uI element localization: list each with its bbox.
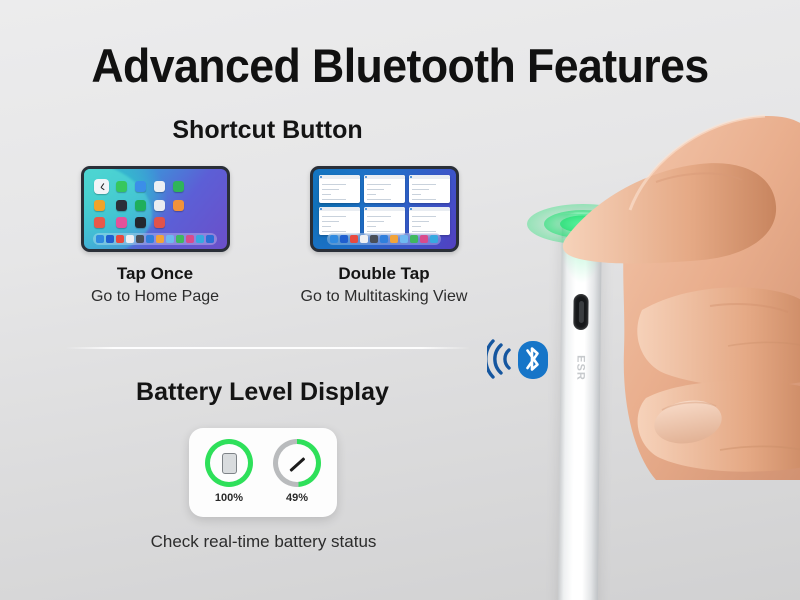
home-app-icon (94, 217, 105, 228)
dock-app-icon (370, 235, 378, 243)
dock-app-icon (166, 235, 174, 243)
shortcut-section-heading: Shortcut Button (0, 116, 535, 145)
shortcut-item-tap-once: Tap Once Go to Home Page (69, 166, 241, 306)
dock-app-icon (156, 235, 164, 243)
section-divider (65, 347, 470, 349)
dock-app-icon (146, 235, 154, 243)
home-dock (93, 233, 217, 245)
shortcut-item-double-tap: Double Tap Go to Multitasking View (286, 166, 482, 306)
battery-ring-stylus (273, 439, 321, 487)
bluetooth-icon (487, 335, 549, 383)
battery-gauge-tablet: 100% (202, 439, 256, 517)
dock-app-icon (186, 235, 194, 243)
dock-app-icon (360, 235, 368, 243)
dock-app-icon (196, 235, 204, 243)
battery-level-card: 100% 49% (189, 428, 337, 517)
home-app-icon (116, 217, 127, 228)
tablet-multitasking-screen (310, 166, 459, 252)
battery-ring-tablet (205, 439, 253, 487)
multitasking-screen (313, 169, 456, 249)
dock-app-icon (390, 235, 398, 243)
multitasking-window-card (364, 207, 405, 235)
home-app-icon (94, 179, 109, 194)
multitasking-card-grid (319, 175, 450, 235)
dock-app-icon (350, 235, 358, 243)
tap-once-label: Tap Once (69, 264, 241, 284)
battery-gauge-stylus: 49% (270, 439, 324, 517)
dock-app-icon (420, 235, 428, 243)
dock-app-icon (330, 235, 338, 243)
home-app-grid (94, 181, 186, 228)
dock-app-icon (126, 235, 134, 243)
dock-app-icon (176, 235, 184, 243)
home-app-icon (173, 181, 184, 192)
home-app-icon (135, 217, 146, 228)
dock-app-icon (96, 235, 104, 243)
multitasking-window-card (319, 207, 360, 235)
dock-app-icon (106, 235, 114, 243)
hand-photo (560, 60, 800, 480)
marketing-banner: Advanced Bluetooth Features Shortcut But… (0, 0, 800, 600)
multitasking-window-card (319, 175, 360, 203)
multitasking-window-card (409, 175, 450, 203)
home-app-icon (94, 200, 105, 211)
dock-app-icon (206, 235, 214, 243)
stylus-icon (273, 439, 321, 487)
tablet-icon (205, 439, 253, 487)
double-tap-description: Go to Multitasking View (286, 288, 482, 306)
home-app-icon (154, 217, 165, 228)
multitasking-window-card (409, 207, 450, 235)
tablet-home-screen (81, 166, 230, 252)
home-app-icon (116, 200, 127, 211)
battery-section-heading: Battery Level Display (0, 378, 525, 407)
battery-percent-stylus: 49% (270, 492, 324, 504)
battery-caption: Check real-time battery status (0, 532, 527, 552)
home-screen (84, 169, 227, 249)
home-app-icon (135, 200, 146, 211)
battery-percent-tablet: 100% (202, 492, 256, 504)
double-tap-label: Double Tap (286, 264, 482, 284)
home-app-icon (116, 181, 127, 192)
dock-app-icon (116, 235, 124, 243)
dock-app-icon (400, 235, 408, 243)
home-app-icon (135, 181, 146, 192)
dock-app-icon (410, 235, 418, 243)
multitasking-dock (327, 233, 441, 245)
multitasking-window-card (364, 175, 405, 203)
home-app-icon (173, 200, 184, 211)
dock-app-icon (430, 235, 438, 243)
home-app-icon (154, 181, 165, 192)
dock-app-icon (380, 235, 388, 243)
dock-app-icon (340, 235, 348, 243)
dock-app-icon (136, 235, 144, 243)
home-app-icon (154, 200, 165, 211)
tap-once-description: Go to Home Page (69, 288, 241, 306)
